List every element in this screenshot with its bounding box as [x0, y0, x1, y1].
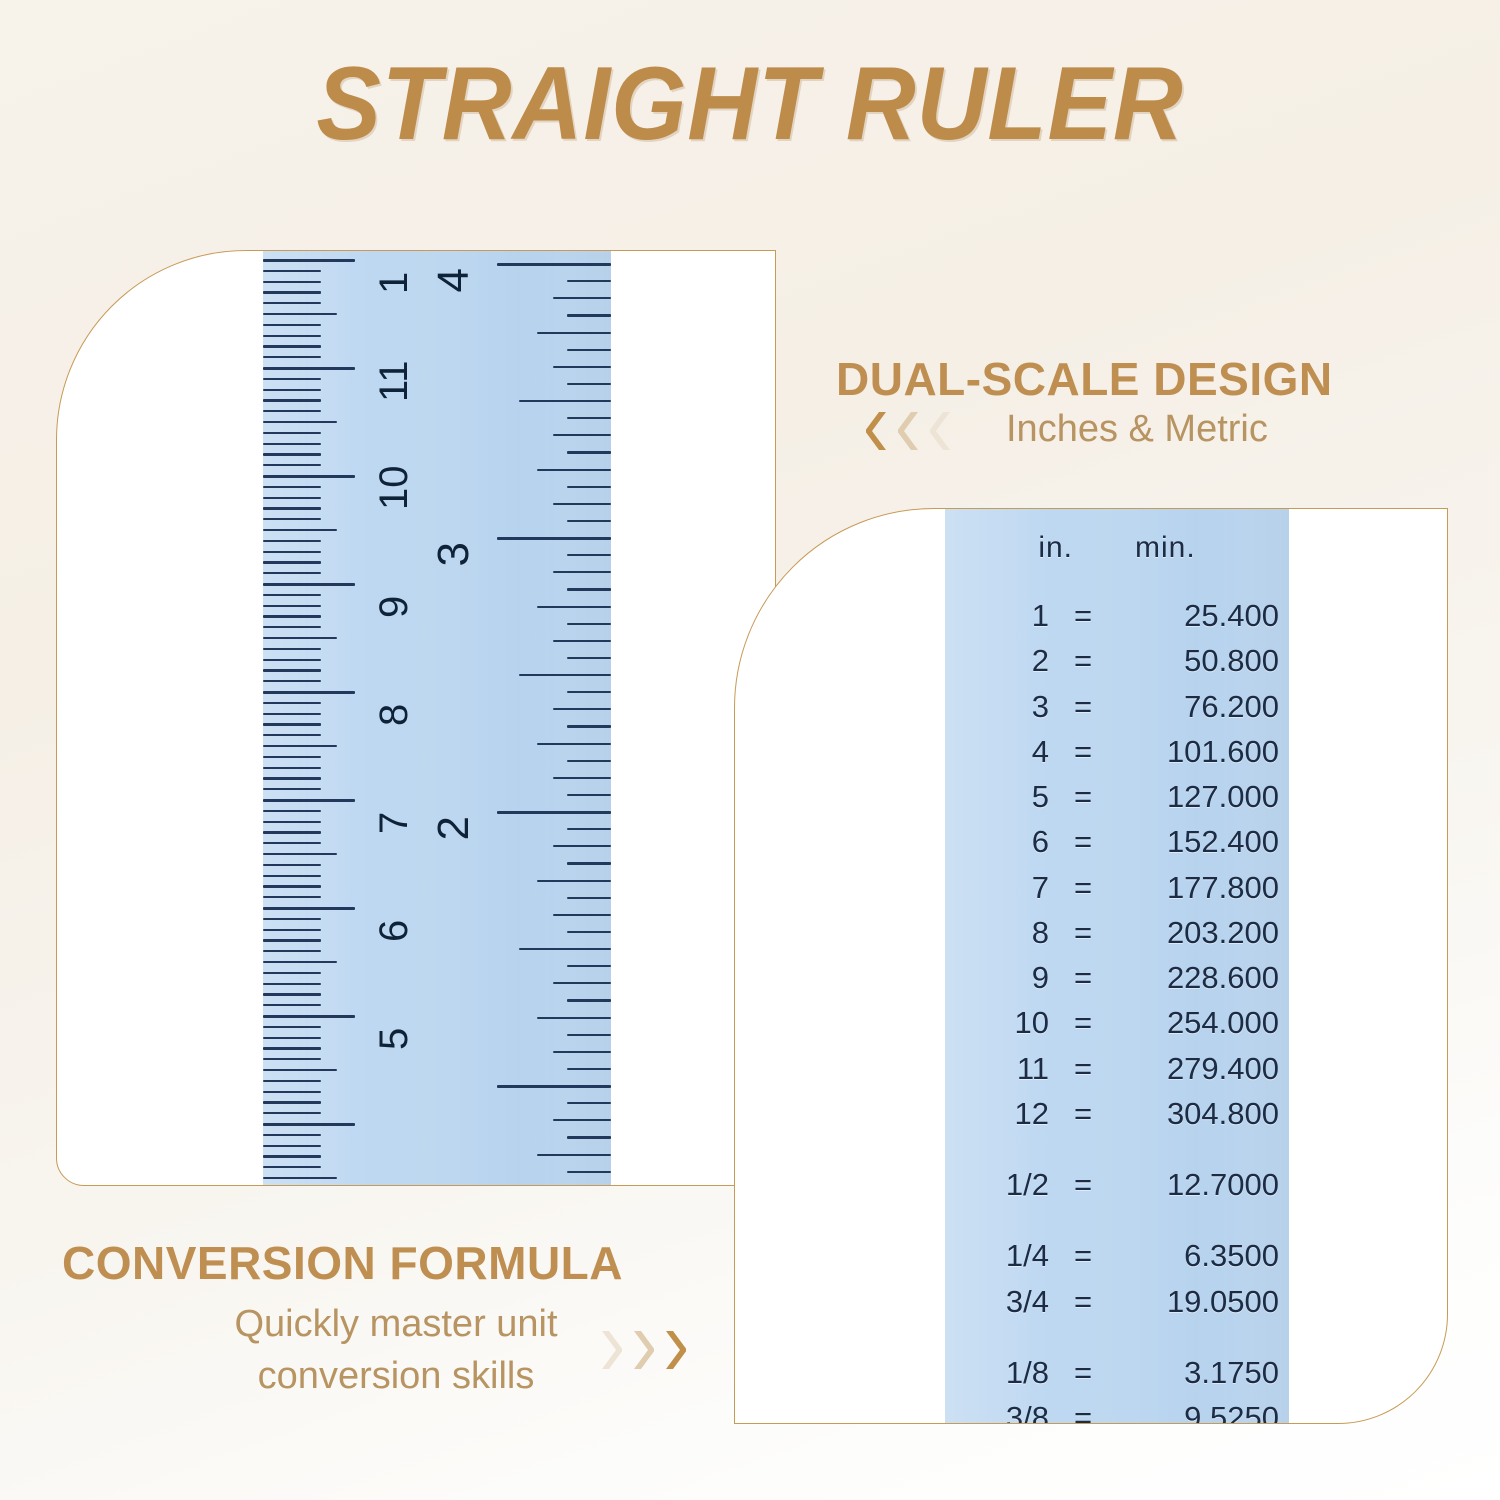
ruler-tick-metric [263, 767, 321, 769]
ruler-tick-metric [263, 518, 321, 520]
ruler-tick-metric [263, 745, 337, 747]
ruler-tick-metric [263, 799, 355, 802]
ruler-photo-card: 1111098765432 [56, 250, 776, 1186]
ruler-tick-imperial [553, 571, 611, 573]
ruler-tick-imperial [567, 588, 611, 590]
chevron-right-icon [660, 1328, 686, 1372]
conversion-row: 8=203.200 [945, 910, 1289, 955]
ruler-tick-imperial [519, 948, 611, 950]
ruler-tick-metric [263, 788, 321, 790]
equals-sign: = [1063, 1395, 1103, 1424]
ruler-label-imperial: 3 [432, 542, 476, 620]
ruler-tick-metric [263, 896, 321, 898]
conversion-inches: 3/4 [945, 1279, 1063, 1324]
ruler-tick-metric [263, 561, 321, 563]
conversion-millimeters: 254.000 [1103, 1000, 1279, 1045]
ruler-tick-metric [263, 950, 321, 952]
equals-sign: = [1063, 774, 1103, 819]
ruler-tick-imperial [567, 794, 611, 796]
chevrons-right [596, 1328, 686, 1372]
conversion-millimeters: 12.7000 [1103, 1162, 1279, 1207]
equals-sign: = [1063, 955, 1103, 1000]
ruler-tick-metric [263, 864, 321, 866]
ruler-tick-imperial [537, 1017, 611, 1019]
ruler-tick-metric [263, 1101, 321, 1103]
ruler-tick-metric [263, 1037, 321, 1039]
conversion-inches: 8 [945, 910, 1063, 955]
conversion-millimeters: 101.600 [1103, 729, 1279, 774]
ruler-tick-imperial [567, 349, 611, 351]
conversion-group-spacer [945, 1136, 1289, 1162]
ruler-tick-imperial [567, 417, 611, 419]
ruler-tick-imperial [553, 845, 611, 847]
ruler-tick-metric [263, 291, 321, 293]
ruler-tick-metric [263, 907, 355, 910]
ruler-tick-imperial [553, 297, 611, 299]
ruler-tick-metric [263, 1015, 355, 1018]
conversion-millimeters: 152.400 [1103, 819, 1279, 864]
ruler-tick-metric [263, 1080, 321, 1082]
ruler-tick-imperial [497, 537, 611, 540]
ruler-tick-imperial [519, 674, 611, 676]
equals-sign: = [1063, 865, 1103, 910]
ruler-tick-imperial [567, 657, 611, 659]
ruler-tick-imperial [567, 760, 611, 762]
conversion-inches: 6 [945, 819, 1063, 864]
ruler-tick-imperial [537, 743, 611, 745]
ruler-tick-metric [263, 1069, 337, 1071]
ruler-tick-metric [263, 842, 321, 844]
ruler-label-imperial: 4 [432, 268, 476, 346]
ruler-label-imperial: 2 [432, 816, 476, 894]
conversion-row: 12=304.800 [945, 1091, 1289, 1136]
ruler-tick-metric [263, 1091, 321, 1093]
ruler-tick-metric [263, 983, 321, 985]
ruler-tick-metric [263, 507, 321, 509]
ruler-body: 1111098765432 [263, 251, 611, 1185]
equals-sign: = [1063, 1233, 1103, 1278]
conversion-row: 1=25.400 [945, 593, 1289, 638]
ruler-tick-imperial [567, 520, 611, 522]
conversion-inches: 5 [945, 774, 1063, 819]
ruler-tick-imperial [553, 914, 611, 916]
conversion-row: 2=50.800 [945, 638, 1289, 683]
ruler-tick-metric [263, 399, 321, 401]
ruler-tick-metric [263, 831, 321, 833]
equals-sign: = [1063, 729, 1103, 774]
ruler-tick-imperial [553, 366, 611, 368]
ruler-label-metric: 6 [374, 872, 414, 942]
ruler-tick-metric [263, 432, 321, 434]
chevron-left-icon [898, 409, 924, 453]
ruler-tick-imperial [553, 1051, 611, 1053]
ruler-tick-imperial [553, 434, 611, 436]
ruler-tick-metric [263, 281, 321, 283]
chevron-right-icon [628, 1328, 654, 1372]
ruler-tick-metric [263, 713, 321, 715]
equals-sign: = [1063, 593, 1103, 638]
ruler-tick-metric [263, 356, 321, 358]
ruler-tick-imperial [497, 1085, 611, 1088]
ruler-tick-metric [263, 918, 321, 920]
ruler-tick-metric [263, 669, 321, 671]
ruler-label-metric: 8 [374, 656, 414, 726]
conversion-table-header: in. min. [945, 531, 1289, 565]
ruler-tick-imperial [567, 451, 611, 453]
conversion-inches: 9 [945, 955, 1063, 1000]
ruler-tick-imperial [567, 280, 611, 282]
ruler-tick-imperial [567, 1034, 611, 1036]
feature-subtitle-dual-scale: Inches & Metric [1006, 408, 1268, 451]
conversion-row: 1/2=12.7000 [945, 1162, 1289, 1207]
equals-sign: = [1063, 684, 1103, 729]
ruler-tick-metric [263, 1166, 321, 1168]
ruler-tick-metric [263, 659, 321, 661]
ruler-tick-metric [263, 594, 321, 596]
conversion-table-card: in. min. 1=25.4002=50.8003=76.2004=101.6… [734, 508, 1448, 1424]
ruler-tick-imperial [567, 691, 611, 693]
ruler-tick-metric [263, 421, 337, 423]
ruler-tick-metric [263, 378, 321, 380]
equals-sign: = [1063, 1091, 1103, 1136]
conversion-millimeters: 9.5250 [1103, 1395, 1279, 1424]
ruler-tick-metric [263, 1134, 321, 1136]
conversion-row: 6=152.400 [945, 819, 1289, 864]
ruler-tick-metric [263, 702, 321, 704]
ruler-tick-metric [263, 410, 321, 412]
ruler-tick-metric [263, 1145, 321, 1147]
chevrons-left [866, 409, 956, 453]
conversion-millimeters: 6.3500 [1103, 1233, 1279, 1278]
ruler-tick-imperial [553, 982, 611, 984]
ruler-tick-imperial [537, 469, 611, 471]
ruler-tick-imperial [567, 314, 611, 316]
conversion-millimeters: 50.800 [1103, 638, 1279, 683]
ruler-tick-metric [263, 885, 321, 887]
ruler-tick-imperial [553, 640, 611, 642]
conversion-row: 1/4=6.3500 [945, 1233, 1289, 1278]
ruler-tick-metric [263, 1123, 355, 1126]
conversion-row: 4=101.600 [945, 729, 1289, 774]
ruler-label-metric: 1 [374, 250, 414, 294]
ruler-tick-metric [263, 929, 321, 931]
ruler-tick-metric [263, 1004, 321, 1006]
ruler-tick-metric [263, 1026, 321, 1028]
conversion-inches: 3/8 [945, 1395, 1063, 1424]
ruler-tick-metric [263, 1058, 321, 1060]
ruler-tick-metric [263, 810, 321, 812]
chevron-right-icon [596, 1328, 622, 1372]
ruler-tick-metric [263, 777, 321, 779]
conversion-inches: 1 [945, 593, 1063, 638]
ruler-label-metric: 11 [374, 332, 414, 402]
ruler-label-metric: 9 [374, 548, 414, 618]
ruler-tick-metric [263, 1112, 321, 1114]
ruler-tick-imperial [567, 897, 611, 899]
ruler-tick-metric [263, 540, 321, 542]
conversion-row: 1/8=3.1750 [945, 1350, 1289, 1395]
equals-sign: = [1063, 1279, 1103, 1324]
ruler-tick-metric [263, 583, 355, 586]
column-header-mm: min. [1135, 531, 1196, 565]
ruler-tick-imperial [567, 623, 611, 625]
ruler-tick-metric [263, 691, 355, 694]
ruler-tick-metric [263, 389, 321, 391]
ruler-tick-imperial [537, 332, 611, 334]
conversion-inches: 1/4 [945, 1233, 1063, 1278]
imperial-tick-band [493, 251, 611, 1185]
ruler-tick-metric [263, 961, 337, 963]
ruler-tick-metric [263, 313, 337, 315]
ruler-tick-imperial [537, 606, 611, 608]
ruler-tick-metric [263, 453, 321, 455]
conversion-millimeters: 25.400 [1103, 593, 1279, 638]
conversion-inches: 4 [945, 729, 1063, 774]
conversion-group-spacer [945, 1207, 1289, 1233]
conversion-millimeters: 19.0500 [1103, 1279, 1279, 1324]
equals-sign: = [1063, 638, 1103, 683]
ruler-tick-metric [263, 637, 337, 639]
ruler-tick-metric [263, 270, 321, 272]
conversion-millimeters: 304.800 [1103, 1091, 1279, 1136]
conversion-millimeters: 127.000 [1103, 774, 1279, 819]
ruler-tick-metric [263, 821, 321, 823]
conversion-inches: 2 [945, 638, 1063, 683]
ruler-label-metric: 5 [374, 980, 414, 1050]
ruler-tick-metric [263, 259, 355, 262]
ruler-tick-imperial [567, 931, 611, 933]
ruler-tick-metric [263, 756, 321, 758]
equals-sign: = [1063, 1000, 1103, 1045]
ruler-tick-imperial [567, 999, 611, 1001]
ruler-tick-imperial [567, 1171, 611, 1173]
equals-sign: = [1063, 1350, 1103, 1395]
feature-title-conversion-formula: CONVERSION FORMULA [62, 1236, 623, 1290]
ruler-tick-imperial [497, 811, 611, 814]
ruler-tick-imperial [537, 1154, 611, 1156]
ruler-tick-metric [263, 939, 321, 941]
equals-sign: = [1063, 1046, 1103, 1091]
ruler-tick-metric [263, 529, 337, 531]
ruler-tick-metric [263, 1177, 337, 1179]
conversion-row: 10=254.000 [945, 1000, 1289, 1045]
conversion-inches: 12 [945, 1091, 1063, 1136]
ruler-tick-metric [263, 1047, 321, 1049]
ruler-tick-metric [263, 551, 321, 553]
equals-sign: = [1063, 910, 1103, 955]
ruler-tick-metric [263, 615, 321, 617]
conversion-row: 9=228.600 [945, 955, 1289, 1000]
ruler-tick-imperial [567, 862, 611, 864]
feature-subtitle-conversion-formula: Quickly master unit conversion skills [206, 1298, 586, 1403]
conversion-millimeters: 3.1750 [1103, 1350, 1279, 1395]
ruler-tick-imperial [567, 486, 611, 488]
conversion-row: 11=279.400 [945, 1046, 1289, 1091]
page-title: STRAIGHT RULER [53, 52, 1448, 156]
ruler-tick-imperial [567, 828, 611, 830]
ruler-tick-imperial [553, 777, 611, 779]
ruler-tick-metric [263, 345, 321, 347]
conversion-inches: 11 [945, 1046, 1063, 1091]
ruler-tick-imperial [567, 965, 611, 967]
ruler-label-metric: 7 [374, 764, 414, 834]
ruler-tick-imperial [553, 1119, 611, 1121]
conversion-row: 5=127.000 [945, 774, 1289, 819]
ruler-tick-metric [263, 475, 355, 478]
ruler-body-conversion: in. min. 1=25.4002=50.8003=76.2004=101.6… [945, 509, 1289, 1423]
ruler-tick-imperial [537, 880, 611, 882]
ruler-tick-metric [263, 497, 321, 499]
ruler-tick-metric [263, 680, 321, 682]
ruler-tick-metric [263, 367, 355, 370]
ruler-tick-metric [263, 626, 321, 628]
conversion-millimeters: 279.400 [1103, 1046, 1279, 1091]
conversion-millimeters: 76.200 [1103, 684, 1279, 729]
ruler-tick-metric [263, 972, 321, 974]
ruler-tick-metric [263, 464, 321, 466]
metric-tick-band [263, 251, 359, 1185]
ruler-tick-imperial [497, 263, 611, 266]
conversion-millimeters: 177.800 [1103, 865, 1279, 910]
conversion-row: 3=76.200 [945, 684, 1289, 729]
feature-title-dual-scale: DUAL-SCALE DESIGN [836, 352, 1333, 406]
ruler-tick-metric [263, 324, 321, 326]
conversion-inches: 7 [945, 865, 1063, 910]
ruler-tick-metric [263, 853, 337, 855]
conversion-inches: 1/8 [945, 1350, 1063, 1395]
conversion-row: 3/4=19.0500 [945, 1279, 1289, 1324]
ruler-tick-metric [263, 302, 321, 304]
equals-sign: = [1063, 819, 1103, 864]
column-header-inches: in. [1038, 531, 1073, 565]
conversion-inches: 10 [945, 1000, 1063, 1045]
equals-sign: = [1063, 1162, 1103, 1207]
chevron-left-icon [866, 409, 892, 453]
ruler-tick-imperial [567, 1102, 611, 1104]
ruler-tick-imperial [553, 708, 611, 710]
ruler-tick-metric [263, 335, 321, 337]
ruler-tick-imperial [567, 554, 611, 556]
conversion-group-spacer [945, 1324, 1289, 1350]
conversion-inches: 1/2 [945, 1162, 1063, 1207]
ruler-tick-imperial [553, 503, 611, 505]
conversion-row: 7=177.800 [945, 865, 1289, 910]
ruler-tick-metric [263, 875, 321, 877]
ruler-tick-metric [263, 993, 321, 995]
ruler-tick-imperial [567, 383, 611, 385]
conversion-table: in. min. 1=25.4002=50.8003=76.2004=101.6… [945, 531, 1289, 1424]
ruler-tick-imperial [519, 400, 611, 402]
conversion-inches: 3 [945, 684, 1063, 729]
ruler-tick-metric [263, 723, 321, 725]
ruler-tick-metric [263, 1155, 321, 1157]
chevron-left-icon [930, 409, 956, 453]
ruler-tick-imperial [567, 1068, 611, 1070]
conversion-row: 3/8=9.5250 [945, 1395, 1289, 1424]
ruler-tick-imperial [567, 725, 611, 727]
ruler-tick-metric [263, 572, 321, 574]
ruler-tick-metric [263, 648, 321, 650]
ruler-tick-metric [263, 605, 321, 607]
ruler-tick-metric [263, 443, 321, 445]
conversion-millimeters: 228.600 [1103, 955, 1279, 1000]
ruler-label-metric: 10 [374, 440, 414, 510]
ruler-tick-metric [263, 486, 321, 488]
conversion-millimeters: 203.200 [1103, 910, 1279, 955]
ruler-tick-metric [263, 734, 321, 736]
ruler-tick-imperial [567, 1136, 611, 1138]
